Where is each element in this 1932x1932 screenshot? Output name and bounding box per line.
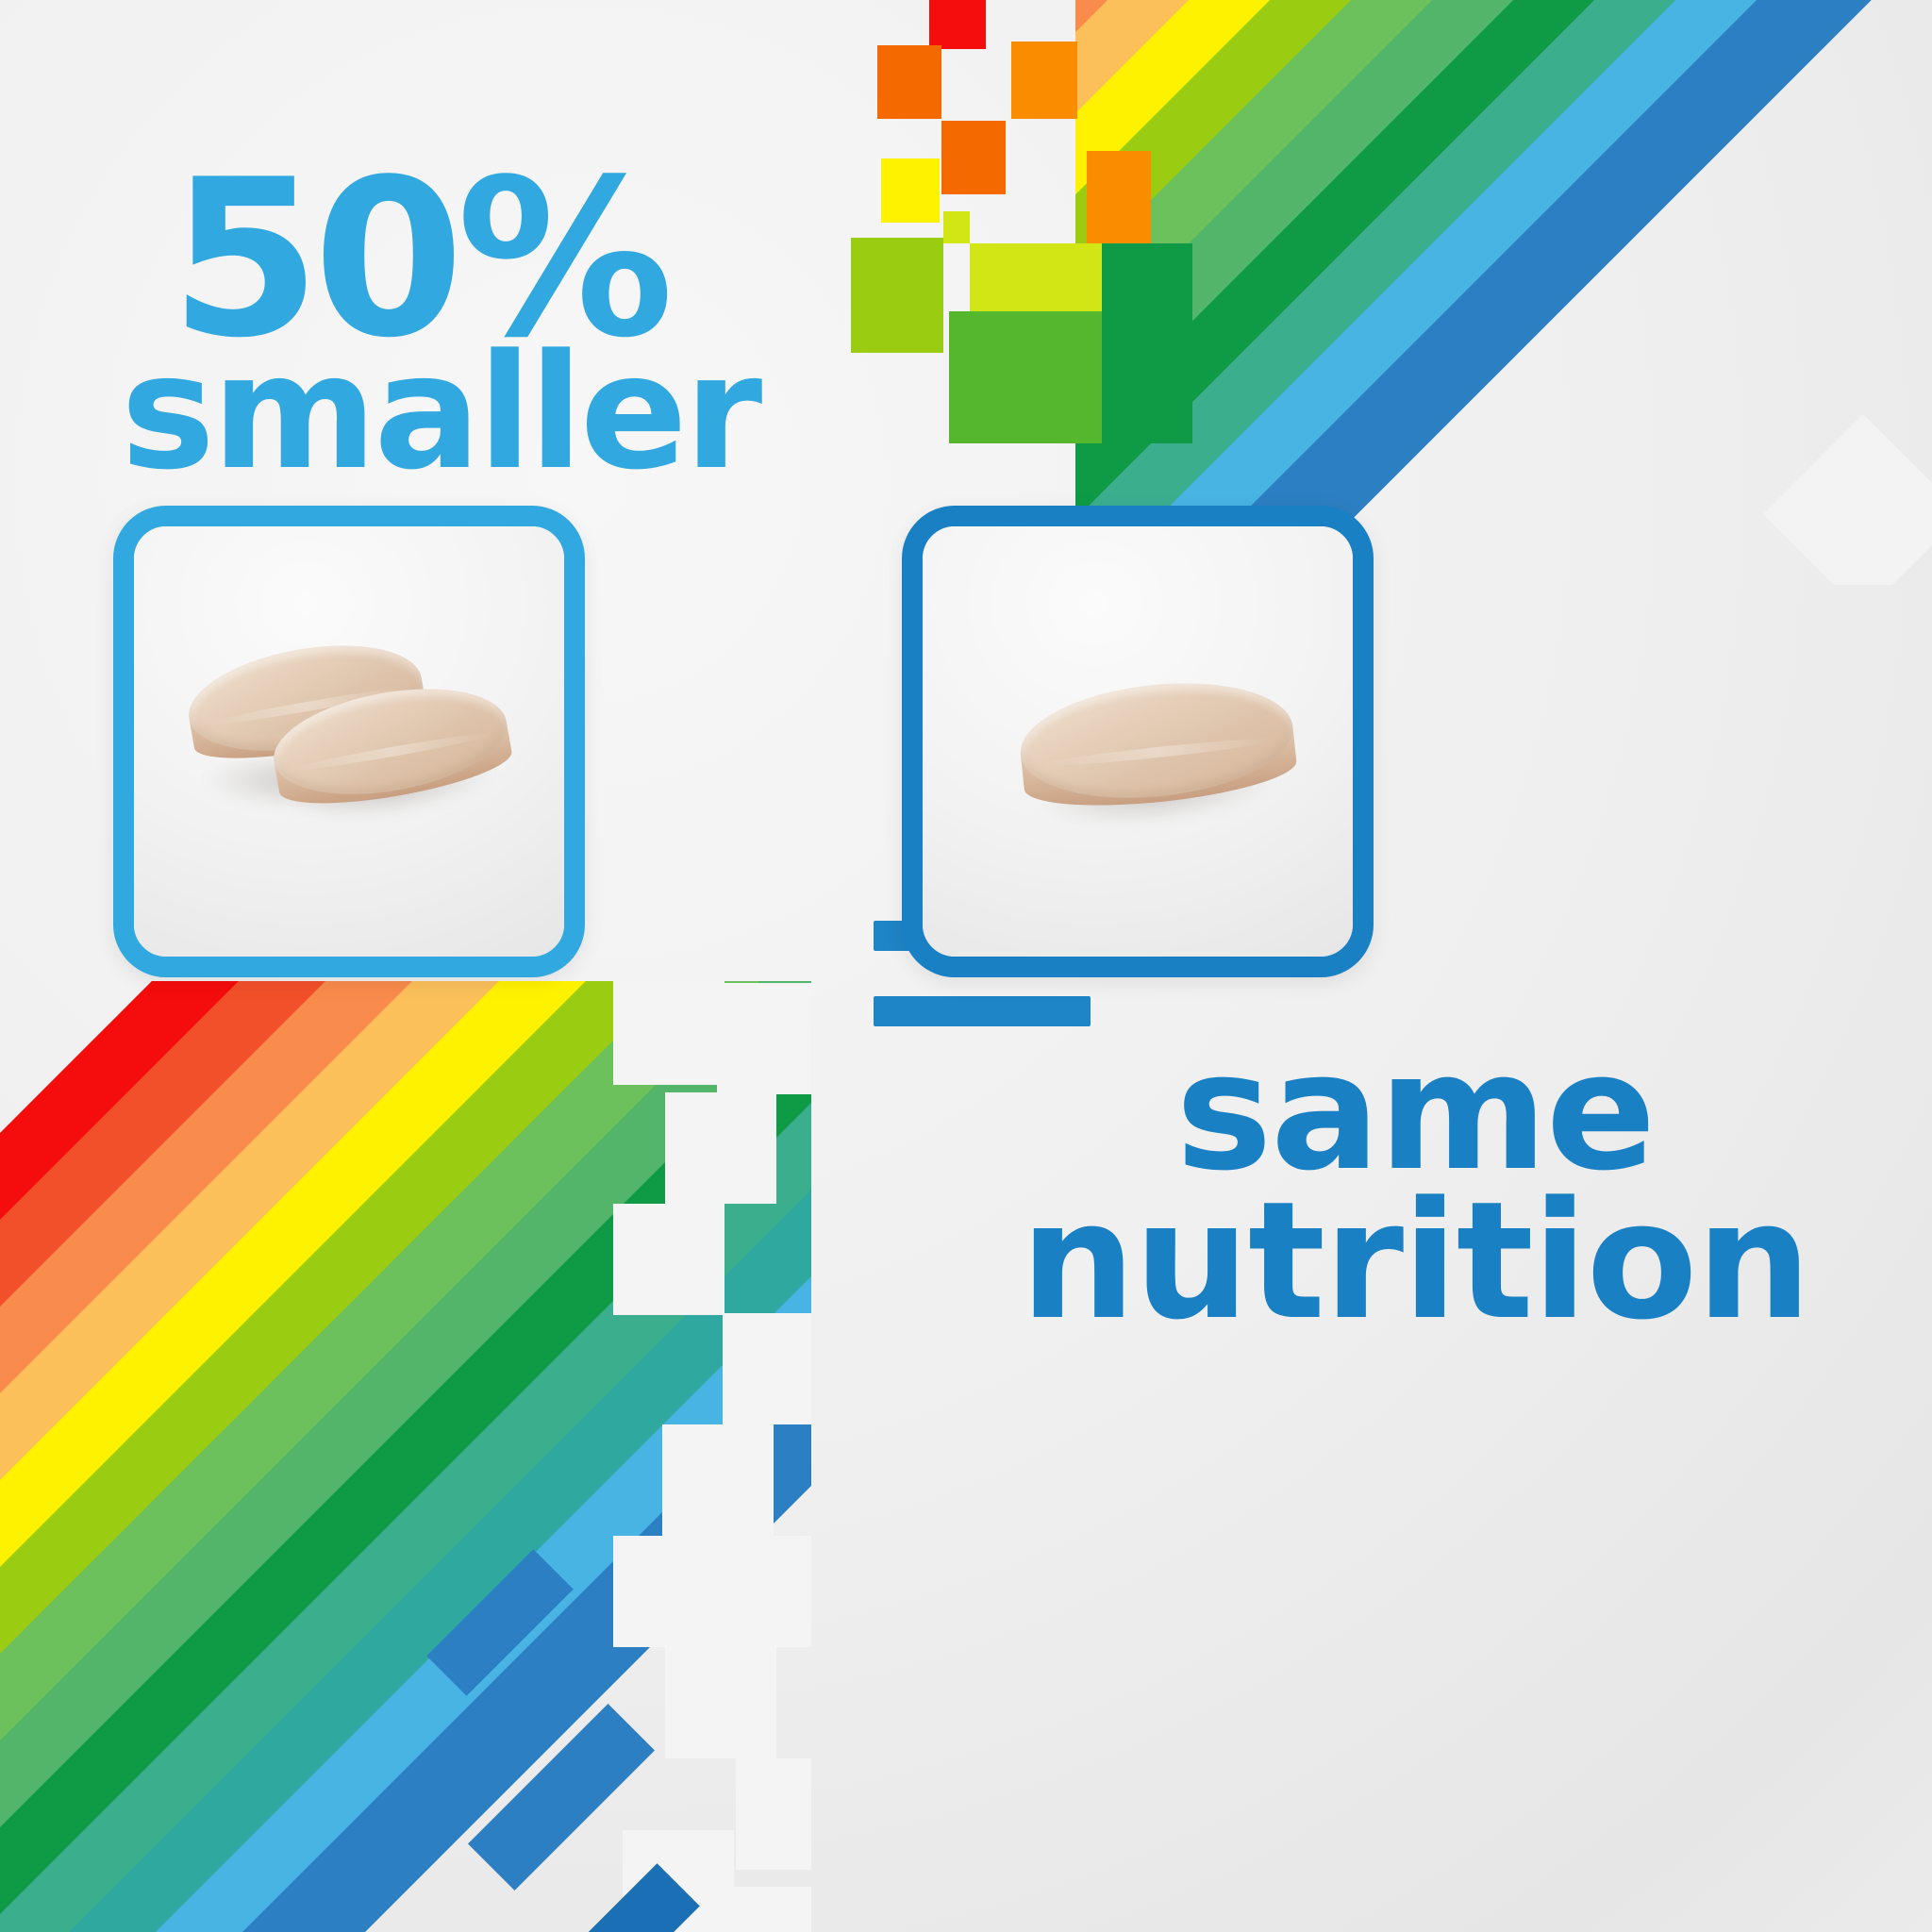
mosaic-square — [929, 0, 986, 49]
rainbow-stripes-bottom-left — [0, 981, 811, 1932]
stripe-pixel-hole — [662, 1424, 774, 1536]
stripe-pixel-hole — [723, 1536, 811, 1647]
left-frame-photo — [134, 526, 564, 957]
stripe-pixel-hole — [665, 1647, 776, 1758]
two-large-tablets — [134, 526, 564, 957]
mosaic-square — [1011, 42, 1077, 119]
mosaic-square — [851, 238, 943, 353]
headline-same: same — [943, 1038, 1887, 1187]
mosaic-square — [943, 211, 970, 243]
stripe-pixel-hole — [613, 981, 724, 1085]
mosaic-square — [1102, 243, 1192, 443]
headline-smaller: smaller — [121, 340, 759, 486]
stripe-pixel-hole — [613, 1536, 724, 1647]
stripe-pixel-hole — [736, 1758, 811, 1870]
one-small-tablet — [923, 526, 1353, 957]
stripe-pixel-hole — [708, 1887, 811, 1932]
mosaic-square — [941, 121, 1006, 194]
mosaic-square — [949, 311, 1104, 443]
equals-bar-bottom — [874, 996, 1091, 1026]
mosaic-square — [881, 158, 940, 223]
headline-nutrition: nutrition — [943, 1187, 1887, 1336]
left-tablet-frame[interactable] — [113, 506, 585, 977]
poster-canvas: 50% smaller — [0, 0, 1932, 1932]
tablet-single — [1015, 671, 1300, 825]
stripe-pixel-hole — [723, 1313, 811, 1424]
stripe-pixel-hole — [613, 1204, 724, 1315]
right-tablet-frame[interactable] — [902, 506, 1374, 977]
stripe-pixel-hole — [717, 983, 811, 1094]
mosaic-square — [877, 45, 941, 119]
right-frame-photo — [923, 526, 1353, 957]
stripe-pixel-hole — [665, 1092, 776, 1204]
